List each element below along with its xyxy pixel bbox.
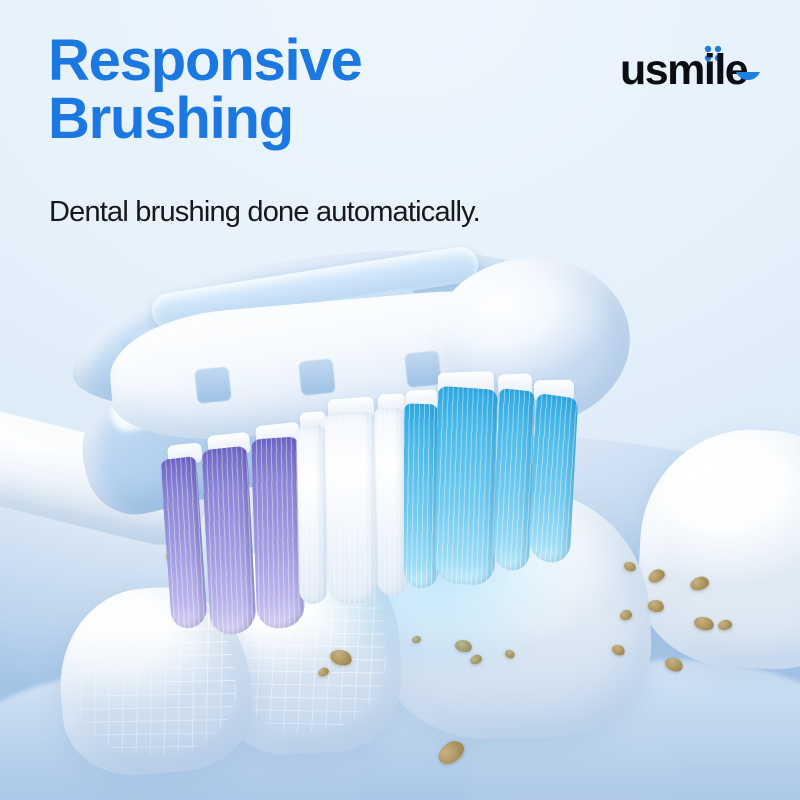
usmile-wordmark: usmile <box>620 43 768 89</box>
cyan-bristle-tuft <box>404 403 438 588</box>
purple-bristle-tuft <box>201 446 256 637</box>
brush-head-notch <box>404 350 441 387</box>
page-title: Responsive Brushing <box>48 32 362 148</box>
promo-poster: Responsive Brushing Dental brushing done… <box>0 0 800 800</box>
logo-wordmark-text: usmile <box>620 46 748 89</box>
cyan-bristle-tuft <box>434 386 497 586</box>
page-subtitle: Dental brushing done automatically. <box>49 196 480 229</box>
brush-head-notch <box>298 358 335 395</box>
electric-toothbrush <box>0 248 620 668</box>
cyan-bristle-tuft <box>528 393 578 565</box>
white-bristle-tuft <box>296 425 327 605</box>
tooth-gloss <box>668 440 800 542</box>
brush-head-notch <box>194 366 231 403</box>
white-bristle-tuft <box>324 411 377 605</box>
brand-logo[interactable]: usmile <box>620 44 768 88</box>
white-bristle-tuft <box>374 408 407 596</box>
